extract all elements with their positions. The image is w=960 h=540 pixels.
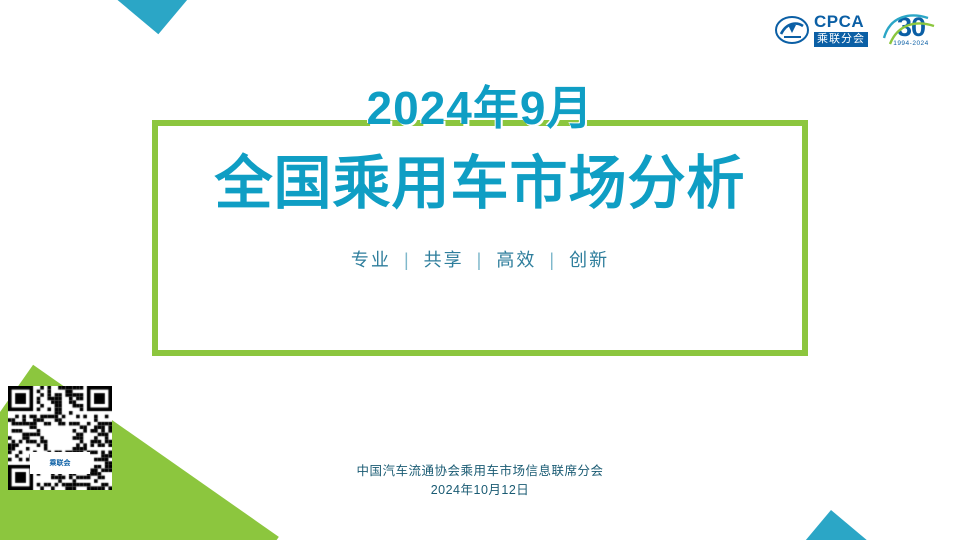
slogan-item-2: 共享 bbox=[424, 250, 464, 270]
slogan-separator-2: | bbox=[477, 250, 484, 270]
slogan-separator-3: | bbox=[549, 250, 556, 270]
cpca-logo-chinese: 乘联分会 bbox=[814, 32, 868, 47]
decor-band-bottom-right-teal bbox=[342, 510, 960, 540]
cpca-logo-english: CPCA bbox=[814, 13, 868, 30]
presentation-slide: CPCA 乘联分会 30 1994-2024 2024年9月 全国乘用车市场分析… bbox=[0, 0, 960, 540]
decor-band-top-left-teal bbox=[0, 0, 570, 34]
qr-code bbox=[8, 386, 112, 490]
slogan-item-4: 创新 bbox=[569, 250, 609, 270]
subtitle-slogan: 专业 | 共享 | 高效 | 创新 bbox=[351, 246, 609, 272]
title-line-1: 2024年9月 bbox=[367, 82, 594, 134]
qr-code-logo-badge: 乘联会 bbox=[30, 452, 90, 474]
cpca-emblem-icon bbox=[775, 13, 809, 47]
footer-text: 中国汽车流通协会乘用车市场信息联席分会 2024年10月12日 bbox=[0, 462, 960, 500]
title-line-2: 全国乘用车市场分析 bbox=[214, 148, 745, 220]
header-logo-area: CPCA 乘联分会 30 1994-2024 bbox=[775, 10, 942, 50]
slogan-separator-1: | bbox=[404, 250, 411, 270]
slogan-item-3: 高效 bbox=[496, 250, 536, 270]
cpca-logo: CPCA 乘联分会 bbox=[775, 13, 868, 47]
title-block: 2024年9月 全国乘用车市场分析 专业 | 共享 | 高效 | 创新 bbox=[152, 120, 808, 356]
qr-badge-label: 乘联会 bbox=[50, 458, 71, 468]
slogan-item-1: 专业 bbox=[351, 250, 391, 270]
anniversary-badge: 30 1994-2024 bbox=[880, 10, 942, 50]
cpca-logo-text: CPCA 乘联分会 bbox=[814, 13, 868, 47]
footer-date: 2024年10月12日 bbox=[0, 481, 960, 500]
footer-organization: 中国汽车流通协会乘用车市场信息联席分会 bbox=[0, 462, 960, 481]
